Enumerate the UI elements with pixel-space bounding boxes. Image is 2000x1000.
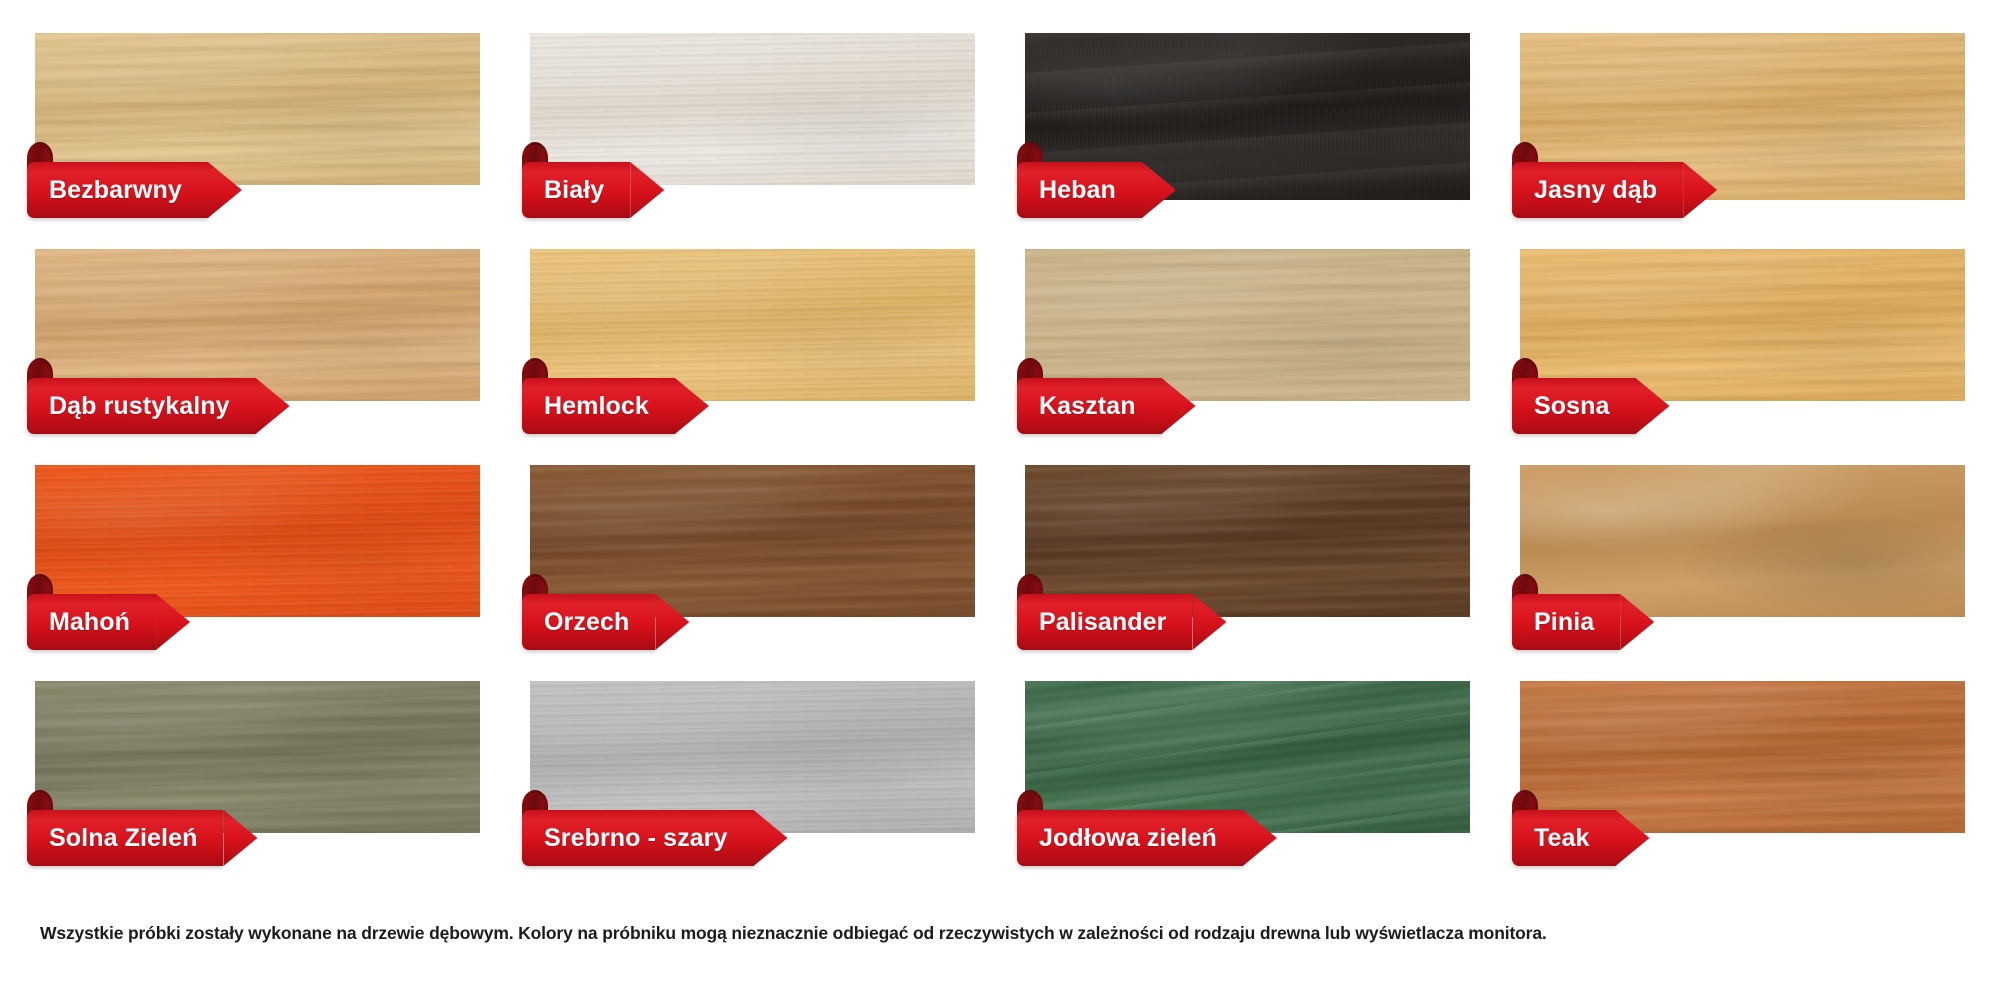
ribbon-body: Dąb rustykalny: [27, 378, 256, 434]
color-name-ribbon[interactable]: Mahoń: [27, 594, 190, 650]
color-name-label: Jasny dąb: [1534, 178, 1657, 203]
color-name-ribbon[interactable]: Kasztan: [1017, 378, 1196, 434]
ribbon-arrow-point: [1620, 594, 1654, 650]
ribbon-body: Srebrno - szary: [522, 810, 754, 866]
ribbon-body: Pinia: [1512, 594, 1620, 650]
footer-disclaimer: Wszystkie próbki zostały wykonane na drz…: [40, 922, 1940, 945]
swatch-cell[interactable]: Solna Zieleń: [35, 681, 480, 866]
swatch-cell[interactable]: Srebrno - szary: [530, 681, 975, 866]
color-name-label: Biały: [544, 178, 604, 203]
ribbon-arrow-point: [754, 810, 788, 866]
color-name-ribbon[interactable]: Pinia: [1512, 594, 1654, 650]
swatch-cell[interactable]: Dąb rustykalny: [35, 249, 480, 434]
ribbon-arrow-point: [156, 594, 190, 650]
color-name-label: Hemlock: [544, 394, 649, 419]
color-name-label: Bezbarwny: [49, 178, 182, 203]
color-name-label: Solna Zieleń: [49, 826, 197, 851]
ribbon-body: Orzech: [522, 594, 655, 650]
color-name-ribbon[interactable]: Bezbarwny: [27, 162, 242, 218]
color-name-label: Teak: [1534, 826, 1590, 851]
swatch-cell[interactable]: Palisander: [1025, 465, 1470, 650]
color-name-ribbon[interactable]: Solna Zieleń: [27, 810, 257, 866]
swatch-cell[interactable]: Teak: [1520, 681, 1965, 866]
swatch-cell[interactable]: Biały: [530, 33, 975, 218]
swatch-cell[interactable]: Orzech: [530, 465, 975, 650]
color-name-label: Sosna: [1534, 394, 1610, 419]
color-name-ribbon[interactable]: Palisander: [1017, 594, 1226, 650]
ribbon-arrow-point: [1192, 594, 1226, 650]
ribbon-arrow-point: [1243, 810, 1277, 866]
swatch-cell[interactable]: Pinia: [1520, 465, 1965, 650]
color-sample-board: BezbarwnyBiałyHebanJasny dąbDąb rustykal…: [0, 0, 2000, 1000]
color-name-label: Orzech: [544, 610, 629, 635]
swatch-cell[interactable]: Kasztan: [1025, 249, 1470, 434]
color-name-ribbon[interactable]: Orzech: [522, 594, 689, 650]
swatch-cell[interactable]: Heban: [1025, 33, 1470, 218]
ribbon-body: Jodłowa zieleń: [1017, 810, 1243, 866]
ribbon-body: Mahoń: [27, 594, 156, 650]
color-name-label: Pinia: [1534, 610, 1594, 635]
color-name-label: Dąb rustykalny: [49, 394, 230, 419]
color-name-ribbon[interactable]: Jasny dąb: [1512, 162, 1717, 218]
color-name-label: Jodłowa zieleń: [1039, 826, 1217, 851]
ribbon-arrow-point: [675, 378, 709, 434]
swatch-cell[interactable]: Jodłowa zieleń: [1025, 681, 1470, 866]
color-name-label: Heban: [1039, 178, 1116, 203]
ribbon-body: Palisander: [1017, 594, 1192, 650]
ribbon-body: Bezbarwny: [27, 162, 208, 218]
ribbon-body: Biały: [522, 162, 630, 218]
color-name-ribbon[interactable]: Heban: [1017, 162, 1176, 218]
ribbon-arrow-point: [1616, 810, 1650, 866]
swatch-cell[interactable]: Bezbarwny: [35, 33, 480, 218]
color-name-ribbon[interactable]: Sosna: [1512, 378, 1670, 434]
ribbon-arrow-point: [1636, 378, 1670, 434]
ribbon-body: Solna Zieleń: [27, 810, 223, 866]
ribbon-body: Heban: [1017, 162, 1142, 218]
ribbon-arrow-point: [223, 810, 257, 866]
color-name-ribbon[interactable]: Srebrno - szary: [522, 810, 788, 866]
swatch-cell[interactable]: Hemlock: [530, 249, 975, 434]
color-name-label: Kasztan: [1039, 394, 1136, 419]
color-name-label: Srebrno - szary: [544, 826, 728, 851]
ribbon-arrow-point: [208, 162, 242, 218]
color-name-ribbon[interactable]: Teak: [1512, 810, 1650, 866]
ribbon-arrow-point: [1683, 162, 1717, 218]
color-name-ribbon[interactable]: Jodłowa zieleń: [1017, 810, 1277, 866]
ribbon-body: Kasztan: [1017, 378, 1162, 434]
swatch-cell[interactable]: Mahoń: [35, 465, 480, 650]
color-name-ribbon[interactable]: Dąb rustykalny: [27, 378, 290, 434]
swatch-grid: BezbarwnyBiałyHebanJasny dąbDąb rustykal…: [35, 33, 1965, 866]
color-name-ribbon[interactable]: Hemlock: [522, 378, 709, 434]
ribbon-body: Teak: [1512, 810, 1616, 866]
swatch-cell[interactable]: Sosna: [1520, 249, 1965, 434]
color-name-ribbon[interactable]: Biały: [522, 162, 664, 218]
color-name-label: Mahoń: [49, 610, 130, 635]
ribbon-arrow-point: [630, 162, 664, 218]
color-name-label: Palisander: [1039, 610, 1166, 635]
ribbon-body: Jasny dąb: [1512, 162, 1683, 218]
swatch-cell[interactable]: Jasny dąb: [1520, 33, 1965, 218]
ribbon-body: Hemlock: [522, 378, 675, 434]
ribbon-arrow-point: [1142, 162, 1176, 218]
ribbon-arrow-point: [655, 594, 689, 650]
ribbon-body: Sosna: [1512, 378, 1636, 434]
ribbon-arrow-point: [256, 378, 290, 434]
ribbon-arrow-point: [1162, 378, 1196, 434]
